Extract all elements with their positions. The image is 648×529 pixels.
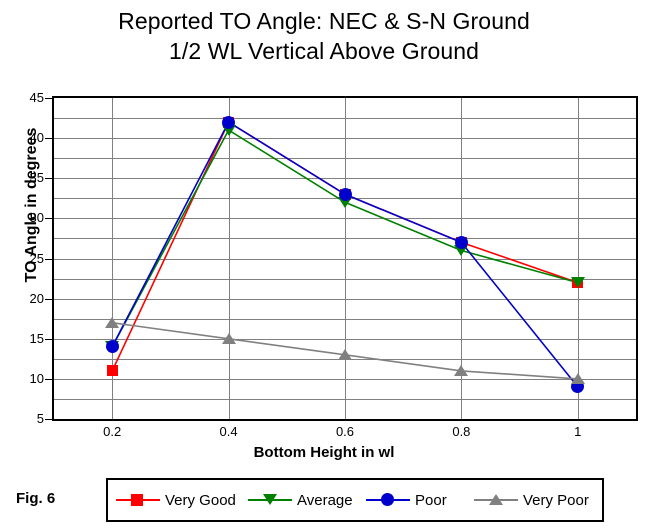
triangle-down-marker xyxy=(571,277,585,288)
legend-sample xyxy=(248,492,292,508)
x-axis-tick-label: 0.8 xyxy=(431,424,491,439)
x-axis-title: Bottom Height in wl xyxy=(0,444,648,461)
triangle-up-marker xyxy=(571,373,585,384)
chart-title-line-2: 1/2 WL Vertical Above Ground xyxy=(0,36,648,66)
circle-marker xyxy=(106,340,119,353)
triangle-up-marker xyxy=(338,349,352,360)
legend-item[interactable]: Average xyxy=(248,492,366,509)
circle-marker xyxy=(381,493,394,506)
series-line xyxy=(112,122,578,387)
legend-item[interactable]: Poor xyxy=(366,492,474,509)
square-marker xyxy=(131,494,143,506)
y-axis-tick-label: 15 xyxy=(14,331,44,346)
y-axis-tick-mark xyxy=(45,419,52,420)
x-axis-tick-label: 1 xyxy=(548,424,608,439)
legend-sample xyxy=(474,492,518,508)
legend-label: Very Good xyxy=(165,492,236,509)
y-axis-tick-label: 30 xyxy=(14,210,44,225)
y-axis-tick-mark xyxy=(45,98,52,99)
chart-container: Reported TO Angle: NEC & S-N Ground 1/2 … xyxy=(0,0,648,529)
triangle-up-marker xyxy=(222,333,236,344)
y-axis-tick-label: 25 xyxy=(14,251,44,266)
plot-area xyxy=(52,96,638,421)
x-axis-tick-label: 0.2 xyxy=(82,424,142,439)
y-axis-tick-mark xyxy=(45,218,52,219)
chart-title-line-1: Reported TO Angle: NEC & S-N Ground xyxy=(0,6,648,36)
legend-sample xyxy=(366,492,410,508)
y-axis-tick-mark xyxy=(45,299,52,300)
square-marker xyxy=(107,365,118,376)
y-axis-tick-label: 45 xyxy=(14,90,44,105)
legend: Very GoodAveragePoorVery Poor xyxy=(106,478,604,522)
y-axis-tick-label: 5 xyxy=(14,411,44,426)
legend-sample xyxy=(116,492,160,508)
x-axis-tick-label: 0.4 xyxy=(199,424,259,439)
series-line xyxy=(112,122,578,371)
y-axis-tick-label: 40 xyxy=(14,130,44,145)
chart-title: Reported TO Angle: NEC & S-N Ground 1/2 … xyxy=(0,6,648,66)
triangle-up-marker xyxy=(105,317,119,328)
legend-item[interactable]: Very Poor xyxy=(474,492,594,509)
triangle-down-marker xyxy=(263,494,277,505)
legend-label: Average xyxy=(297,492,353,509)
legend-label: Very Poor xyxy=(523,492,589,509)
series-lines xyxy=(54,98,636,419)
triangle-up-marker xyxy=(489,494,503,505)
y-axis-tick-mark xyxy=(45,379,52,380)
legend-label: Poor xyxy=(415,492,447,509)
y-axis-tick-label: 20 xyxy=(14,291,44,306)
circle-marker xyxy=(339,188,352,201)
y-axis-tick-label: 35 xyxy=(14,170,44,185)
y-axis-tick-mark xyxy=(45,259,52,260)
y-axis-tick-mark xyxy=(45,339,52,340)
y-axis-tick-mark xyxy=(45,178,52,179)
circle-marker xyxy=(455,236,468,249)
legend-item[interactable]: Very Good xyxy=(116,492,248,509)
y-axis-tick-mark xyxy=(45,138,52,139)
circle-marker xyxy=(222,116,235,129)
triangle-up-marker xyxy=(454,365,468,376)
figure-label: Fig. 6 xyxy=(16,490,55,507)
y-axis-tick-label: 10 xyxy=(14,371,44,386)
x-axis-tick-label: 0.6 xyxy=(315,424,375,439)
series-line xyxy=(112,130,578,347)
